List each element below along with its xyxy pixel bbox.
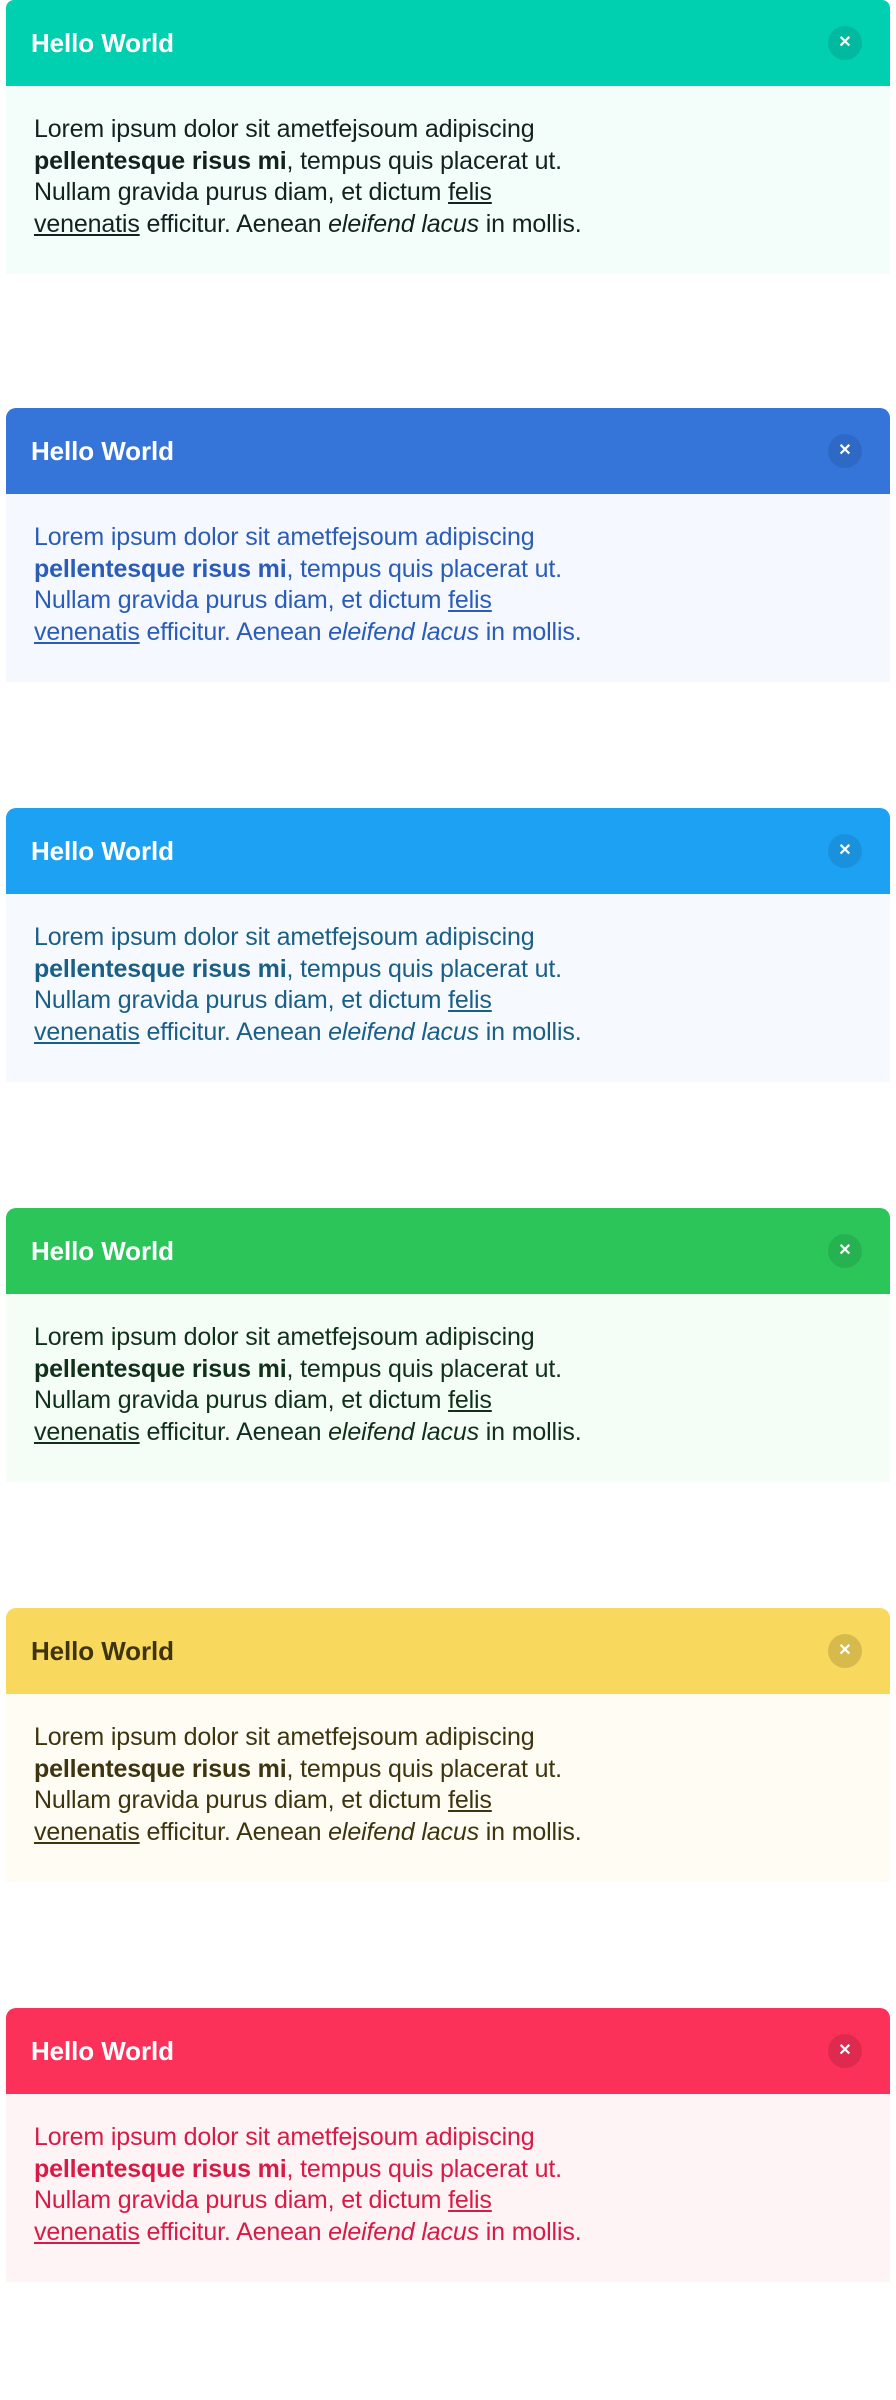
text-segment-1: Lorem ipsum dolor sit ametfejsoum adipis… (34, 1323, 535, 1351)
text-segment-1: Lorem ipsum dolor sit ametfejsoum adipis… (34, 115, 535, 143)
text-segment-4: in mollis. (479, 1818, 582, 1846)
alert-message: Lorem ipsum dolor sit ametfejsoum adipis… (34, 2122, 594, 2248)
text-segment-1: Lorem ipsum dolor sit ametfejsoum adipis… (34, 2123, 535, 2151)
alert-body: Lorem ipsum dolor sit ametfejsoum adipis… (6, 894, 890, 1082)
alert-title: Hello World (31, 438, 174, 464)
alert-title: Hello World (31, 30, 174, 56)
alert-message: Lorem ipsum dolor sit ametfejsoum adipis… (34, 114, 594, 240)
alert-header: Hello World ✕ (6, 1208, 890, 1294)
text-segment-3: efficitur. Aenean (140, 1018, 329, 1046)
text-bold-1: pellentesque risus mi (34, 955, 287, 983)
text-segment-1: Lorem ipsum dolor sit ametfejsoum adipis… (34, 1723, 535, 1751)
alert-card-danger-red: Hello World ✕ Lorem ipsum dolor sit amet… (6, 2008, 890, 2364)
alert-body: Lorem ipsum dolor sit ametfejsoum adipis… (6, 86, 890, 274)
text-segment-4: in mollis. (479, 210, 582, 238)
alert-message: Lorem ipsum dolor sit ametfejsoum adipis… (34, 522, 594, 648)
alert-header: Hello World ✕ (6, 1608, 890, 1694)
text-segment-4: in mollis. (479, 1418, 582, 1446)
alert-card-primary-blue: Hello World ✕ Lorem ipsum dolor sit amet… (6, 408, 890, 764)
text-segment-4: in mollis. (479, 1018, 582, 1046)
close-icon[interactable]: ✕ (828, 434, 862, 468)
alert-body: Lorem ipsum dolor sit ametfejsoum adipis… (6, 1694, 890, 1882)
close-glyph: ✕ (838, 843, 851, 859)
close-glyph: ✕ (838, 443, 851, 459)
text-segment-3: efficitur. Aenean (140, 2218, 329, 2246)
alert-message: Lorem ipsum dolor sit ametfejsoum adipis… (34, 922, 594, 1048)
alert-title: Hello World (31, 1638, 174, 1664)
close-glyph: ✕ (838, 2043, 851, 2059)
alert-card-info-blue: Hello World ✕ Lorem ipsum dolor sit amet… (6, 808, 890, 1164)
alert-header: Hello World ✕ (6, 408, 890, 494)
alert-title: Hello World (31, 1238, 174, 1264)
text-segment-3: efficitur. Aenean (140, 1818, 329, 1846)
text-italic-1: eleifend lacus (328, 618, 479, 646)
close-glyph: ✕ (838, 1643, 851, 1659)
alert-body: Lorem ipsum dolor sit ametfejsoum adipis… (6, 2094, 890, 2282)
close-glyph: ✕ (838, 35, 851, 51)
close-icon[interactable]: ✕ (828, 26, 862, 60)
text-bold-1: pellentesque risus mi (34, 1755, 287, 1783)
close-icon[interactable]: ✕ (828, 2034, 862, 2068)
text-italic-1: eleifend lacus (328, 1018, 479, 1046)
text-segment-3: efficitur. Aenean (140, 1418, 329, 1446)
alert-card-teal: Hello World ✕ Lorem ipsum dolor sit amet… (6, 0, 890, 356)
text-italic-1: eleifend lacus (328, 1418, 479, 1446)
alert-card-warning-yellow: Hello World ✕ Lorem ipsum dolor sit amet… (6, 1608, 890, 1964)
close-icon[interactable]: ✕ (828, 1234, 862, 1268)
alert-card-stack: Hello World ✕ Lorem ipsum dolor sit amet… (0, 0, 896, 2400)
text-segment-1: Lorem ipsum dolor sit ametfejsoum adipis… (34, 923, 535, 951)
text-bold-1: pellentesque risus mi (34, 1355, 287, 1383)
text-bold-1: pellentesque risus mi (34, 2155, 287, 2183)
alert-header: Hello World ✕ (6, 2008, 890, 2094)
text-segment-4: in mollis. (479, 618, 582, 646)
text-italic-1: eleifend lacus (328, 1818, 479, 1846)
text-segment-3: efficitur. Aenean (140, 618, 329, 646)
text-italic-1: eleifend lacus (328, 2218, 479, 2246)
close-icon[interactable]: ✕ (828, 1634, 862, 1668)
text-segment-3: efficitur. Aenean (140, 210, 329, 238)
text-bold-1: pellentesque risus mi (34, 555, 287, 583)
text-italic-1: eleifend lacus (328, 210, 479, 238)
alert-header: Hello World ✕ (6, 808, 890, 894)
alert-card-success-green: Hello World ✕ Lorem ipsum dolor sit amet… (6, 1208, 890, 1564)
alert-header: Hello World ✕ (6, 0, 890, 86)
text-segment-4: in mollis. (479, 2218, 582, 2246)
alert-message: Lorem ipsum dolor sit ametfejsoum adipis… (34, 1322, 594, 1448)
close-icon[interactable]: ✕ (828, 834, 862, 868)
alert-title: Hello World (31, 2038, 174, 2064)
alert-title: Hello World (31, 838, 174, 864)
text-segment-1: Lorem ipsum dolor sit ametfejsoum adipis… (34, 523, 535, 551)
text-bold-1: pellentesque risus mi (34, 147, 287, 175)
close-glyph: ✕ (838, 1243, 851, 1259)
alert-message: Lorem ipsum dolor sit ametfejsoum adipis… (34, 1722, 594, 1848)
alert-body: Lorem ipsum dolor sit ametfejsoum adipis… (6, 494, 890, 682)
alert-body: Lorem ipsum dolor sit ametfejsoum adipis… (6, 1294, 890, 1482)
